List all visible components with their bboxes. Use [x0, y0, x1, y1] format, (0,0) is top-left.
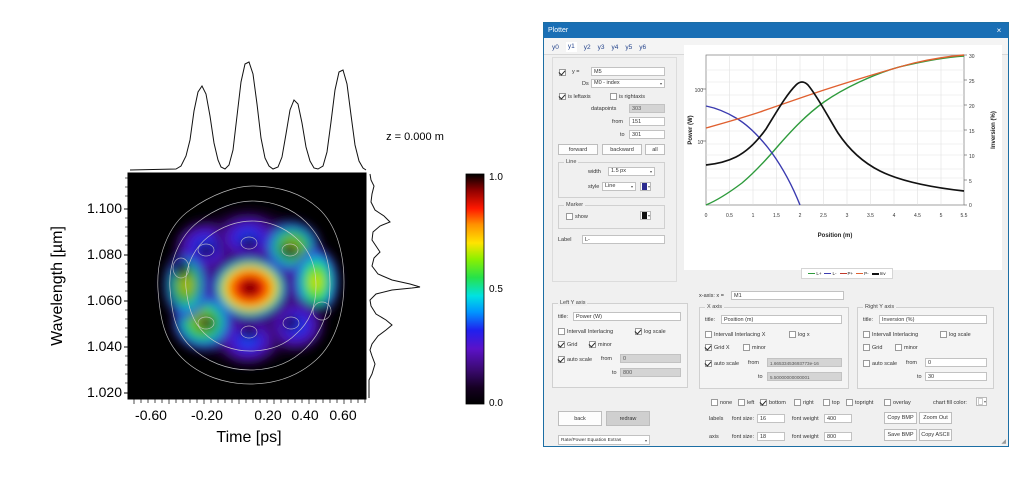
svg-text:1.5: 1.5: [773, 213, 780, 219]
chevron-down-icon: ▾: [660, 79, 662, 88]
is-rightaxis-label: is rightaxis: [619, 94, 645, 100]
forward-button[interactable]: forward: [558, 144, 598, 155]
right-y-interlacing-label: Intervall Interlacing: [872, 332, 918, 338]
svg-text:0.5: 0.5: [726, 213, 733, 219]
line-style-select[interactable]: Line ▾: [602, 182, 636, 191]
svg-text:1.0: 1.0: [489, 172, 503, 183]
line-style-label: style: [588, 184, 599, 190]
x-grid-checkbox[interactable]: Grid X: [705, 344, 730, 351]
axis-fontsize-input[interactable]: 18: [757, 432, 785, 441]
top-marginal-trace: [130, 62, 366, 170]
right-y-to-input[interactable]: 30: [925, 372, 987, 381]
to-label: to: [620, 132, 625, 138]
svg-text:1.100: 1.100: [87, 200, 122, 216]
x-autoscale-label: auto scale: [714, 361, 739, 367]
legend-topright-checkbox[interactable]: topright: [846, 399, 873, 406]
left-y-grid-checkbox[interactable]: Grid: [558, 341, 577, 348]
labels-row-name: labels: [709, 416, 723, 422]
legend-top-checkbox[interactable]: top: [823, 399, 840, 406]
line-width-label: width: [588, 169, 601, 175]
legend-overlay-checkbox[interactable]: overlay: [884, 399, 911, 406]
y2-tick-10: 10: [969, 154, 975, 160]
extras-select-value: Rate/Power Equation Extras: [561, 436, 621, 445]
y2-tick-20: 20: [969, 104, 975, 110]
copy-bmp-button[interactable]: Copy BMP: [884, 412, 917, 424]
window-titlebar: Plotter ×: [544, 23, 1008, 38]
y2-tick-15: 15: [969, 129, 975, 135]
left-y-minor-checkbox[interactable]: minor: [589, 341, 612, 348]
backward-button[interactable]: backward: [602, 144, 642, 155]
copy-ascii-button[interactable]: Copy ASCII: [919, 429, 952, 441]
legend-left-checkbox[interactable]: left: [738, 399, 754, 406]
svg-text:2: 2: [799, 213, 802, 219]
legend-bottom-label: bottom: [769, 400, 786, 406]
right-y-grid-label: Grid: [872, 345, 882, 351]
left-y-title-input[interactable]: Power (W): [573, 312, 681, 321]
right-y-autoscale-checkbox[interactable]: auto scale: [863, 360, 897, 367]
datapoints-label: datapoints: [591, 106, 616, 112]
plot-svg: 100 10 30 25 20 15 10 5 0: [684, 45, 1002, 270]
axis-fontweight-label: font weight: [792, 434, 819, 440]
x-logx-checkbox[interactable]: log x: [789, 331, 810, 338]
svg-text:1.060: 1.060: [87, 292, 122, 308]
svg-text:4.5: 4.5: [914, 213, 921, 219]
chart-ylabel: Power (W): [688, 115, 694, 144]
svg-text:0.0: 0.0: [489, 398, 503, 409]
y2-tick-30: 30: [969, 54, 975, 60]
left-y-autoscale-label: auto scale: [567, 357, 592, 363]
chart-legend: L+ L- P+ P- Inv: [801, 268, 893, 279]
chevron-down-icon: ▾: [648, 184, 650, 189]
datapoints-value: 303: [629, 104, 665, 113]
right-y-from-label: from: [906, 360, 917, 366]
legend-none-checkbox[interactable]: none: [711, 399, 732, 406]
right-y-logscale-checkbox[interactable]: log scale: [940, 331, 971, 338]
svg-text:3: 3: [846, 213, 849, 219]
svg-text:0.5: 0.5: [489, 284, 503, 295]
chevron-down-icon: ▾: [650, 167, 652, 176]
chevron-down-icon: ▾: [648, 213, 650, 218]
x-grid-label: Grid X: [714, 345, 730, 351]
svg-text:0.40: 0.40: [291, 407, 318, 423]
ds-select[interactable]: M0 - index ▾: [591, 79, 665, 88]
legend-top-label: top: [832, 400, 840, 406]
tab-y1[interactable]: y1: [566, 42, 577, 52]
label-label: Label: [558, 237, 571, 243]
from-label: from: [612, 119, 623, 125]
y2-tick-5: 5: [969, 179, 972, 185]
is-leftaxis-label: is leftaxis: [568, 94, 591, 100]
left-y-logscale-checkbox[interactable]: log scale: [635, 328, 666, 335]
figure-y-axis: 1.100 1.080 1.060 1.040 1.020: [87, 200, 122, 400]
right-y-title-label: title:: [863, 317, 873, 323]
plotter-window: Plotter × y0 y1 y2 y3 y4 y5 y6 y = M5 Ds…: [543, 22, 1009, 447]
legend-bottom-checkbox[interactable]: bottom: [760, 399, 786, 406]
right-y-to-label: to: [917, 374, 922, 380]
svg-text:5: 5: [940, 213, 943, 219]
left-y-to-label: to: [612, 370, 617, 376]
figure-xlabel: Time [ps]: [216, 429, 281, 446]
legend-item-P-minus: P-: [856, 271, 869, 276]
right-y-grid-checkbox[interactable]: Grid: [863, 344, 882, 351]
chart-fill-color-swatch[interactable]: ▾: [976, 397, 987, 406]
contour-figure-panel: z = 0.000 m: [0, 0, 530, 472]
left-y-autoscale-checkbox[interactable]: auto scale: [558, 356, 592, 363]
tab-y5[interactable]: y5: [625, 44, 632, 51]
legend-item-L-minus: L-: [824, 271, 836, 276]
left-y-interlacing-label: Intervall Interlacing: [567, 329, 613, 335]
contour-figure-svg: z = 0.000 m: [0, 0, 530, 472]
resize-grip[interactable]: ◢: [1001, 438, 1006, 445]
legend-topright-label: topright: [855, 400, 873, 406]
svg-text:0.20: 0.20: [254, 407, 281, 423]
colorbar: 1.0 0.5 0.0: [466, 172, 503, 409]
y-label: y =: [572, 69, 580, 75]
svg-text:1.080: 1.080: [87, 246, 122, 262]
svg-text:0.60: 0.60: [329, 407, 356, 423]
chevron-down-icon: ▾: [984, 399, 986, 404]
x-interlacing-checkbox[interactable]: Intervall Interlacing X: [705, 331, 765, 338]
x-to-input: 5.50000000000001: [767, 372, 842, 381]
ds-label: Ds: [582, 81, 589, 87]
left-y-axis-caption: Left Y axis: [558, 300, 587, 306]
tab-y2[interactable]: y2: [584, 44, 591, 51]
legend-right-label: right: [803, 400, 814, 406]
axis-fontsize-label: font size:: [732, 434, 754, 440]
svg-text:1: 1: [752, 213, 755, 219]
z-annotation: z = 0.000 m: [386, 131, 444, 143]
axis-fontweight-input[interactable]: 800: [824, 432, 852, 441]
window-title: Plotter: [548, 27, 994, 34]
x-to-label: to: [758, 374, 763, 380]
left-y-from-input: 0: [620, 354, 681, 363]
labels-fontsize-input[interactable]: 16: [757, 414, 785, 423]
tab-y0[interactable]: y0: [552, 44, 559, 51]
svg-text:-0.20: -0.20: [191, 407, 223, 423]
x-interlacing-label: Intervall Interlacing X: [714, 332, 765, 338]
line-color-swatch[interactable]: ▾: [640, 182, 651, 191]
label-input[interactable]: L-: [582, 235, 665, 244]
line-style-value: Line: [605, 182, 615, 191]
x-title-label: title:: [705, 317, 715, 323]
x-from-input: 1.66533453693773e-16: [767, 358, 842, 367]
left-y-from-label: from: [601, 356, 612, 362]
legend-item-Inv: Inv: [872, 271, 886, 276]
left-y-grid-label: Grid: [567, 342, 577, 348]
legend-overlay-label: overlay: [893, 400, 911, 406]
legend-item-L-plus: L+: [808, 271, 821, 276]
redraw-button[interactable]: redraw: [606, 411, 650, 426]
is-rightaxis-checkbox[interactable]: is rightaxis: [610, 93, 645, 100]
x-from-label: from: [748, 360, 759, 366]
contour-map: [128, 173, 366, 399]
x-minor-label: minor: [752, 345, 766, 351]
ds-select-value: M0 - index: [594, 79, 620, 88]
svg-text:3.5: 3.5: [867, 213, 874, 219]
tab-y3[interactable]: y3: [598, 44, 605, 51]
marker-show-label: show: [575, 214, 588, 220]
y-value-input[interactable]: M5: [591, 67, 665, 76]
plot-canvas[interactable]: 100 10 30 25 20 15 10 5 0: [684, 45, 1002, 270]
left-y-interlacing-checkbox[interactable]: Intervall Interlacing: [558, 328, 613, 335]
right-y-interlacing-checkbox[interactable]: Intervall Interlacing: [863, 331, 918, 338]
line-width-select[interactable]: 1.5 px ▾: [608, 167, 655, 176]
left-y-minor-label: minor: [598, 342, 612, 348]
chevron-down-icon: ▾: [631, 182, 633, 191]
chart-y2label: Inversion (%): [991, 111, 997, 149]
right-y-axis-caption: Right Y axis: [863, 304, 896, 310]
svg-text:4: 4: [893, 213, 896, 219]
right-marginal-trace: [369, 174, 420, 398]
legend-none-label: none: [720, 400, 732, 406]
legend-left-label: left: [747, 400, 754, 406]
marker-group-caption: Marker: [564, 202, 585, 208]
chevron-down-icon: ▾: [645, 436, 647, 445]
extras-select[interactable]: Rate/Power Equation Extras ▾: [558, 435, 650, 445]
is-leftaxis-checkbox[interactable]: is leftaxis: [559, 93, 591, 100]
y-tick-100: 100: [695, 88, 704, 94]
left-y-title-label: title:: [558, 314, 568, 320]
to-input[interactable]: 301: [629, 130, 665, 139]
x-minor-checkbox[interactable]: minor: [743, 344, 766, 351]
all-button[interactable]: all: [645, 144, 665, 155]
svg-text:5.5: 5.5: [961, 213, 968, 219]
marker-show-checkbox[interactable]: show: [566, 213, 588, 220]
line-width-value: 1.5 px: [611, 167, 626, 176]
svg-text:0: 0: [705, 213, 708, 219]
save-bmp-button[interactable]: Save BMP: [884, 429, 917, 441]
x-axis-field-label: x-axis: x =: [699, 293, 724, 299]
tab-y4[interactable]: y4: [612, 44, 619, 51]
chart-fill-color-label: chart fill color:: [933, 400, 967, 406]
axis-row-name: axis: [709, 434, 719, 440]
line-group-caption: Line: [564, 159, 578, 165]
x-logx-label: log x: [798, 332, 810, 338]
left-y-logscale-label: log scale: [644, 329, 666, 335]
marker-color-swatch[interactable]: ▾: [640, 211, 651, 220]
from-input[interactable]: 151: [629, 117, 665, 126]
svg-text:2.5: 2.5: [820, 213, 827, 219]
x-autoscale-checkbox[interactable]: auto scale: [705, 360, 739, 367]
right-y-logscale-label: log scale: [949, 332, 971, 338]
x-axis-caption: X axis: [705, 304, 724, 310]
labels-fontweight-label: font weight: [792, 416, 819, 422]
right-y-minor-checkbox[interactable]: minor: [895, 344, 918, 351]
figure-ylabel: Wavelength [µm]: [49, 226, 66, 346]
labels-fontweight-input[interactable]: 400: [824, 414, 852, 423]
legend-right-checkbox[interactable]: right: [794, 399, 814, 406]
right-y-autoscale-label: auto scale: [872, 361, 897, 367]
x-axis-field-input[interactable]: M1: [731, 291, 844, 300]
left-y-to-input: 800: [620, 368, 681, 377]
chart-xlabel: Position (m): [818, 233, 853, 239]
svg-text:1.020: 1.020: [87, 384, 122, 400]
legend-item-P-plus: P+: [840, 271, 854, 276]
tab-y6[interactable]: y6: [639, 44, 646, 51]
close-icon[interactable]: ×: [994, 26, 1004, 35]
figure-x-axis: -0.60 -0.20 0.20 0.40 0.60: [135, 407, 357, 423]
right-y-title-input[interactable]: Inversion (%): [879, 315, 987, 324]
back-button[interactable]: back: [558, 411, 602, 426]
zoom-out-button[interactable]: Zoom Out: [919, 412, 952, 424]
right-y-from-input[interactable]: 0: [925, 358, 987, 367]
labels-fontsize-label: font size:: [732, 416, 754, 422]
svg-text:-0.60: -0.60: [135, 407, 167, 423]
right-y-minor-label: minor: [904, 345, 918, 351]
x-title-input[interactable]: Position (m): [721, 315, 842, 324]
svg-text:1.040: 1.040: [87, 338, 122, 354]
series-enabled-checkbox[interactable]: [559, 69, 566, 76]
y2-tick-25: 25: [969, 79, 975, 85]
y2-tick-0: 0: [969, 203, 972, 209]
